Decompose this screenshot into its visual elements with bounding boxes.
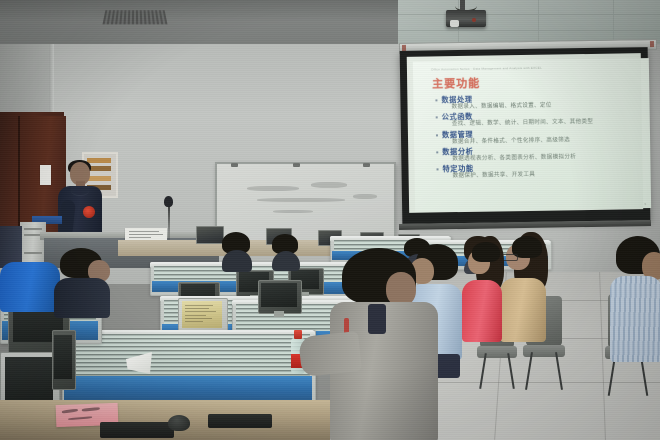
projector-indicator bbox=[472, 18, 476, 22]
person-collar bbox=[368, 304, 386, 334]
slide-section: 数据分析 数据透视表分析、各类图表分析、数据模拟分析 bbox=[436, 144, 644, 164]
bullet-icon bbox=[435, 99, 437, 101]
computer-mouse bbox=[168, 415, 190, 431]
slide-header-note: Office Automation Series · Data Manageme… bbox=[431, 64, 643, 71]
bullet-icon bbox=[437, 168, 439, 170]
monitor-foreground bbox=[52, 330, 74, 388]
slide-section: 特定功能 数据保护、数据共享、开发工具 bbox=[436, 161, 644, 181]
monitor-showing-app bbox=[178, 298, 226, 334]
projection-screen: Office Automation Series · Data Manageme… bbox=[400, 47, 651, 224]
slide-page-number: 5 bbox=[644, 202, 646, 206]
attendee-pink-top bbox=[462, 236, 508, 348]
person-hair bbox=[472, 242, 500, 262]
presentation-slide: Office Automation Series · Data Manageme… bbox=[413, 58, 651, 212]
classroom-photo: Office Automation Series · Data Manageme… bbox=[0, 0, 660, 440]
bullet-icon bbox=[436, 117, 438, 119]
screen-surface: Office Automation Series · Data Manageme… bbox=[407, 53, 643, 213]
ceiling-projector bbox=[446, 10, 486, 27]
person-torso bbox=[272, 251, 300, 271]
slide-title: 主要功能 bbox=[432, 72, 643, 91]
slide-section: 数据处理 数据录入、数据编辑、格式设置、定位 bbox=[435, 92, 643, 112]
monitor bbox=[258, 280, 300, 312]
back-monitor bbox=[196, 226, 224, 244]
presenter-shirt-logo bbox=[83, 206, 95, 218]
person-torso bbox=[54, 278, 110, 318]
bullet-icon bbox=[436, 134, 438, 136]
bullet-icon bbox=[436, 151, 438, 153]
person-torso bbox=[610, 276, 660, 362]
keyboard bbox=[100, 422, 174, 438]
ceiling-grid bbox=[398, 0, 660, 44]
paper-notice bbox=[40, 165, 51, 185]
student-dark-glasses bbox=[52, 248, 114, 314]
person-torso bbox=[0, 262, 60, 312]
ceiling-vent bbox=[102, 10, 167, 24]
person-torso bbox=[462, 280, 502, 342]
keyboard bbox=[208, 414, 272, 428]
attendee-arm bbox=[298, 331, 362, 377]
lectern-papers bbox=[125, 228, 167, 240]
person-torso bbox=[222, 250, 252, 272]
person-head bbox=[386, 272, 416, 306]
slide-section-detail: 数据保护、数据共享、开发工具 bbox=[453, 170, 645, 180]
slide-section: 公式函数 查找、逻辑、数学、统计、日期时间、文本、其他类型 bbox=[436, 109, 644, 129]
student-back-row bbox=[222, 232, 252, 266]
presenter-collar bbox=[71, 186, 89, 196]
slide-section: 数据管理 数据合并、条件格式、个性化排序、高级筛选 bbox=[436, 127, 644, 147]
student-back-row bbox=[272, 234, 300, 266]
microphone-icon bbox=[164, 196, 173, 207]
attendee-striped-shirt bbox=[610, 236, 660, 364]
projector-lens bbox=[450, 20, 459, 27]
